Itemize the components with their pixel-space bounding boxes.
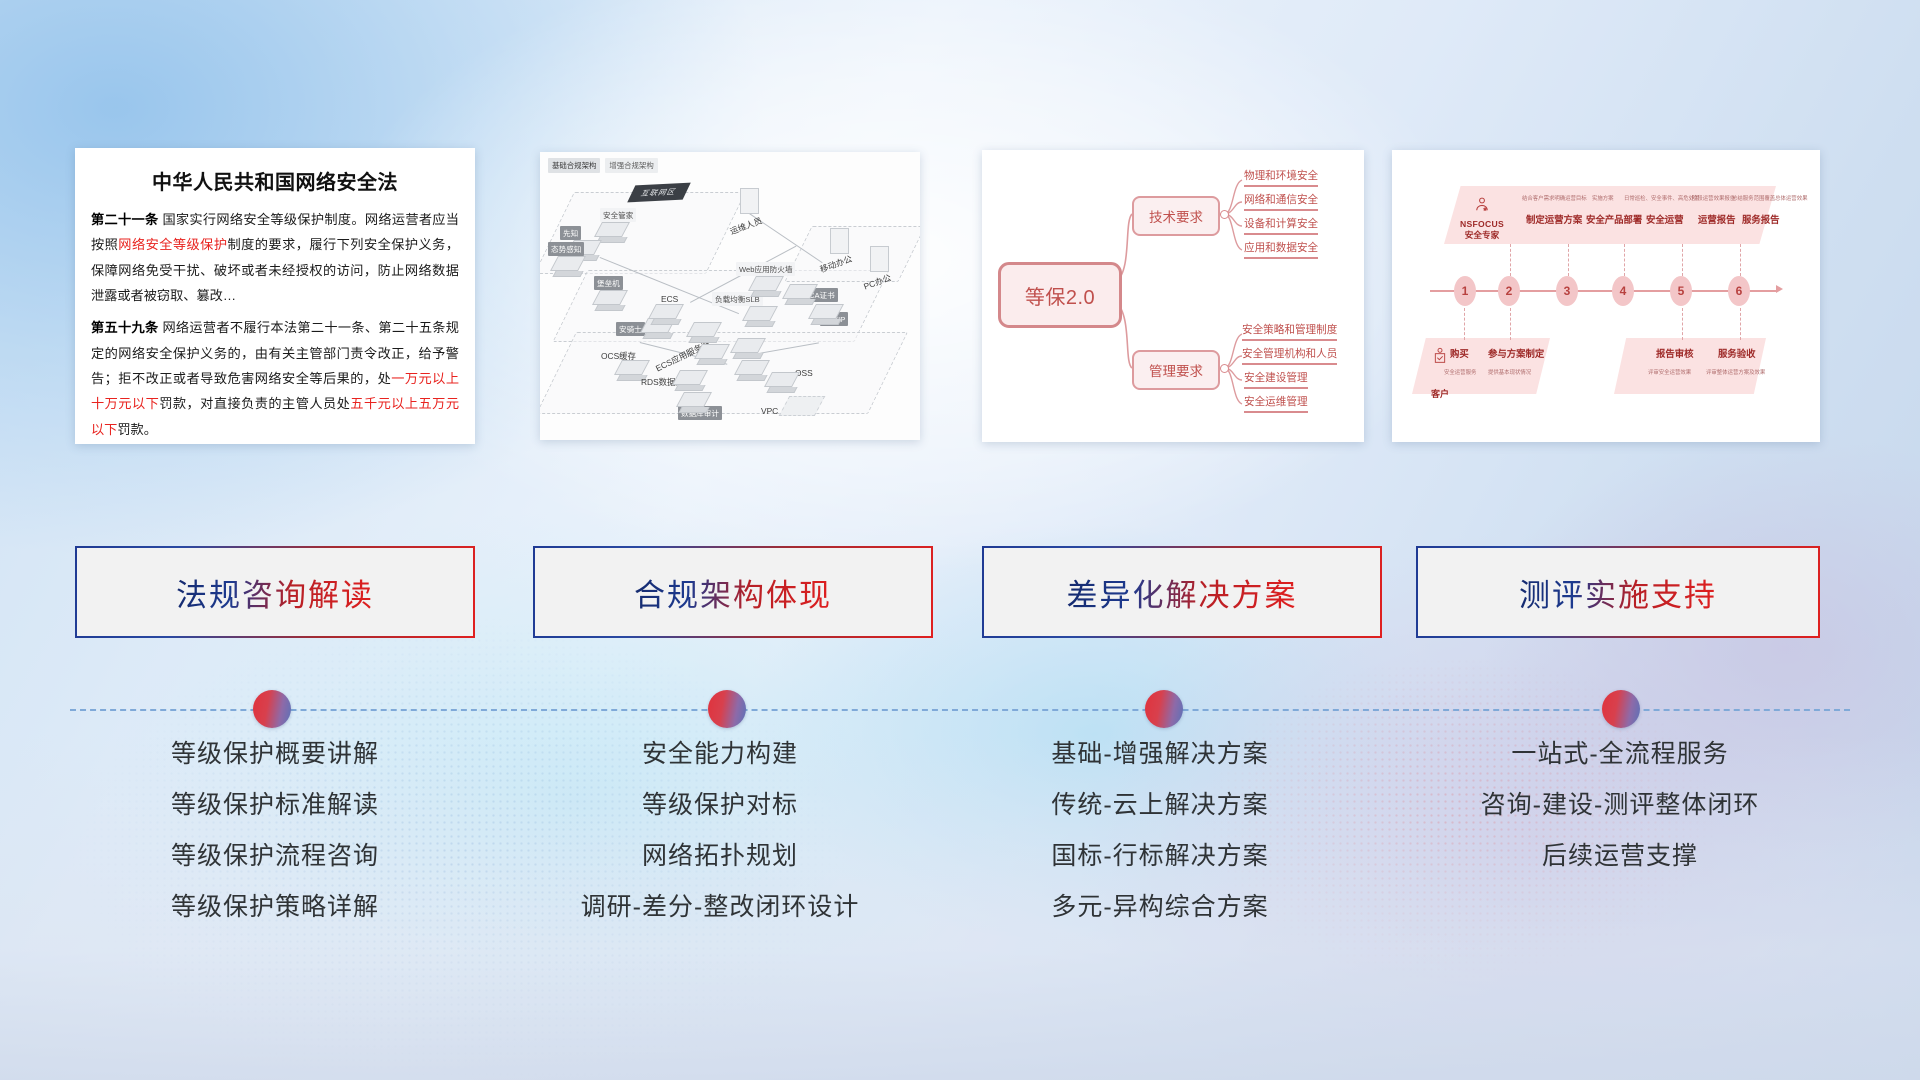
nsfocus-node-4[interactable]: 4 [1612, 276, 1634, 306]
architecture-node-anti-ddos-ip [812, 304, 840, 325]
architecture-label-xianzhi: 先知 [560, 226, 581, 240]
card-cloud-architecture[interactable]: 基础合规架构 增强合规架构 互联网区 安全管家 先知 [540, 152, 920, 440]
law-run-2-2: 罚款，对直接负责的主管人员处 [159, 396, 350, 411]
mindmap-root-node[interactable]: 等保2.0 [998, 262, 1122, 328]
mindmap-leaf-org-personnel[interactable]: 安全管理机构和人员 [1242, 346, 1337, 365]
architecture-tab-basic[interactable]: 基础合规架构 [548, 158, 600, 173]
detail-item: 安全能力构建 [500, 742, 940, 767]
architecture-node-mobile-office [830, 228, 849, 254]
detail-item: 等级保护对标 [500, 793, 940, 818]
nsfocus-step-3-title: 安全产品部署 [1586, 212, 1642, 226]
nsfocus-connector-c3 [1682, 308, 1684, 340]
architecture-node-ecs [652, 304, 680, 325]
detail-column-3: 基础-增强解决方案 传统-云上解决方案 国标-行标解决方案 多元-异构综合方案 [940, 742, 1380, 920]
architecture-node-oss [768, 372, 796, 393]
nsfocus-step-4-sub: 日常巡检、安全事件、高危处置 [1624, 194, 1699, 202]
nsfocus-cust-1-sub: 安全运营服务 [1444, 368, 1476, 376]
law-article-label-1: 第二十一条 [91, 212, 158, 227]
timeline-dot-4[interactable] [1602, 690, 1640, 728]
architecture-node-situation-awareness [554, 256, 582, 277]
nsfocus-timeline-axis [1430, 290, 1778, 292]
mindmap-collapse-icon-management[interactable] [1220, 364, 1229, 373]
architecture-node-rds [676, 370, 704, 391]
nsfocus-step-6-sub: 总结服务范围覆盖总体运营效果 [1732, 194, 1807, 202]
architecture-node-app-3 [734, 338, 762, 359]
nsfocus-brand-role: 安全专家 [1454, 229, 1510, 241]
law-title: 中华人民共和国网络安全法 [91, 166, 459, 195]
section-title-text-1: 法规咨询解读 [176, 570, 374, 615]
law-article-label-2: 第五十九条 [91, 320, 158, 335]
nsfocus-flow-diagram: NSFOCUS 安全专家 客户 结合客户需求明确运营目标 制定运营方案 实施方案 [1392, 150, 1820, 442]
nsfocus-node-3[interactable]: 3 [1556, 276, 1578, 306]
nsfocus-cust-1-title: 购买 [1450, 346, 1469, 360]
architecture-node-db-audit [680, 392, 708, 413]
architecture-node-security-manager [598, 222, 626, 243]
mindmap-branch-management[interactable]: 管理要求 [1132, 350, 1220, 390]
architecture-label-bastion-host: 堡垒机 [594, 276, 623, 290]
nsfocus-step-5-title: 运营报告 [1698, 212, 1736, 226]
architecture-node-bastion-host [596, 290, 624, 311]
mindmap-branch-technical[interactable]: 技术要求 [1132, 196, 1220, 236]
architecture-node-ops-staff [740, 188, 759, 214]
nsfocus-step-2-sub: 结合客户需求明确运营目标 [1522, 194, 1587, 202]
section-title-bar-1[interactable]: 法规咨询解读 [75, 546, 475, 638]
architecture-node-waf [752, 276, 780, 297]
detail-item: 咨询-建设-测评整体闭环 [1395, 793, 1845, 818]
mindmap-collapse-icon-technical[interactable] [1220, 210, 1229, 219]
nsfocus-node-5[interactable]: 5 [1670, 276, 1692, 306]
timeline-dashed-line [70, 709, 1850, 711]
detail-item: 等级保护流程咨询 [55, 844, 495, 869]
nsfocus-node-6[interactable]: 6 [1728, 276, 1750, 306]
detail-item: 多元-异构综合方案 [940, 895, 1380, 920]
timeline-dot-1[interactable] [253, 690, 291, 728]
nsfocus-cust-3-sub: 评审安全运营效果 [1648, 368, 1691, 376]
screenshot-card-row: 中华人民共和国网络安全法 第二十一条 国家实行网络安全等级保护制度。网络运营者应… [0, 148, 1920, 448]
nsfocus-connector-4 [1624, 244, 1626, 276]
detail-column-2: 安全能力构建 等级保护对标 网络拓扑规划 调研-差分-整改闭环设计 [500, 742, 940, 920]
architecture-label-situation-awareness: 态势感知 [548, 242, 584, 256]
nsfocus-cust-2-sub: 提供基本现状情况 [1488, 368, 1531, 376]
nsfocus-connector-6 [1740, 244, 1742, 276]
detail-item: 基础-增强解决方案 [940, 742, 1380, 767]
law-document: 中华人民共和国网络安全法 第二十一条 国家实行网络安全等级保护制度。网络运营者应… [75, 148, 475, 444]
nsfocus-step-3-sub: 实施方案 [1592, 194, 1614, 202]
nsfocus-brand-block: NSFOCUS 安全专家 [1454, 196, 1510, 241]
detail-item: 等级保护概要讲解 [55, 742, 495, 767]
nsfocus-step-6-title: 服务报告 [1742, 212, 1780, 226]
detail-item: 调研-差分-整改闭环设计 [500, 895, 940, 920]
architecture-label-security-manager: 安全管家 [600, 208, 636, 222]
architecture-tab-strip: 基础合规架构 增强合规架构 [548, 158, 658, 173]
customer-clipboard-icon [1432, 346, 1448, 368]
architecture-node-app-4 [738, 360, 766, 381]
section-title-text-4: 测评实施支持 [1519, 570, 1717, 615]
law-run-2-4: 罚款。 [117, 422, 157, 437]
nsfocus-node-1[interactable]: 1 [1454, 276, 1476, 306]
mindmap-leaf-construction[interactable]: 安全建设管理 [1244, 370, 1308, 389]
architecture-node-ca-cert [786, 284, 814, 305]
section-title-row: 法规咨询解读 合规架构体现 差异化解决方案 测评实施支持 [0, 546, 1920, 644]
nsfocus-cust-2-title: 参与方案制定 [1488, 346, 1544, 360]
nsfocus-brand-name: NSFOCUS [1454, 219, 1510, 229]
section-detail-columns: 等级保护概要讲解 等级保护标准解读 等级保护流程咨询 等级保护策略详解 安全能力… [0, 742, 1920, 962]
mindmap-leaf-device-compute[interactable]: 设备和计算安全 [1244, 216, 1318, 235]
law-run-1-1: 网络安全等级保护 [118, 237, 227, 252]
mindmap-leaf-operations[interactable]: 安全运维管理 [1244, 394, 1308, 413]
card-mindmap-dengbao[interactable]: 等保2.0 技术要求 管理要求 物理和环境安全 网络和通信安全 设备和计算安全 … [982, 150, 1364, 442]
mindmap-diagram: 等保2.0 技术要求 管理要求 物理和环境安全 网络和通信安全 设备和计算安全 … [982, 150, 1364, 442]
section-title-text-3: 差异化解决方案 [1067, 570, 1298, 615]
expert-person-icon [1473, 196, 1491, 214]
mindmap-leaf-policy-system[interactable]: 安全策略和管理制度 [1242, 322, 1337, 341]
architecture-node-slb [746, 306, 774, 327]
architecture-node-pc-office [870, 246, 889, 272]
detail-item: 国标-行标解决方案 [940, 844, 1380, 869]
detail-column-4: 一站式-全流程服务 咨询-建设-测评整体闭环 后续运营支撑 [1395, 742, 1845, 869]
architecture-label-waf: Web应用防火墙 [736, 262, 795, 276]
section-title-text-2: 合规架构体现 [634, 570, 832, 615]
card-cybersecurity-law[interactable]: 中华人民共和国网络安全法 第二十一条 国家实行网络安全等级保护制度。网络运营者应… [75, 148, 475, 444]
law-paragraph-2: 第五十九条 网络运营者不履行本法第二十一条、第二十五条规定的网络安全保护义务的，… [91, 315, 459, 442]
nsfocus-connector-c2 [1510, 308, 1512, 340]
detail-item: 等级保护标准解读 [55, 793, 495, 818]
architecture-tab-enhanced[interactable]: 增强合规架构 [605, 158, 657, 173]
card-nsfocus-service-flow[interactable]: NSFOCUS 安全专家 客户 结合客户需求明确运营目标 制定运营方案 实施方案 [1392, 150, 1820, 442]
nsfocus-connector-2 [1510, 244, 1512, 276]
nsfocus-connector-c1 [1464, 308, 1466, 340]
nsfocus-connector-3 [1568, 244, 1570, 276]
detail-item: 网络拓扑规划 [500, 844, 940, 869]
nsfocus-customer-label: 客户 [1418, 387, 1462, 400]
architecture-diagram: 基础合规架构 增强合规架构 互联网区 安全管家 先知 [540, 152, 920, 440]
detail-item: 后续运营支撑 [1395, 844, 1845, 869]
architecture-node-app-1 [690, 322, 718, 343]
detail-item: 传统-云上解决方案 [940, 793, 1380, 818]
nsfocus-step-5-sub: 阶段运营效果报告 [1692, 194, 1735, 202]
nsfocus-cust-3-title: 报告审核 [1656, 346, 1694, 360]
timeline-dot-3[interactable] [1145, 690, 1183, 728]
architecture-node-app-2 [698, 344, 726, 365]
mindmap-leaf-app-data[interactable]: 应用和数据安全 [1244, 240, 1318, 259]
detail-item: 一站式-全流程服务 [1395, 742, 1845, 767]
architecture-banner-internet-zone: 互联网区 [627, 183, 690, 203]
nsfocus-timeline-arrow-icon [1776, 285, 1783, 293]
architecture-label-anqishi: 安骑士 [616, 322, 645, 336]
law-paragraph-1: 第二十一条 国家实行网络安全等级保护制度。网络运营者应当按照网络安全等级保护制度… [91, 207, 459, 308]
timeline [0, 690, 1920, 730]
section-title-bar-4[interactable]: 测评实施支持 [1416, 546, 1820, 638]
mindmap-leaf-network-comm[interactable]: 网络和通信安全 [1244, 192, 1318, 211]
section-title-bar-2[interactable]: 合规架构体现 [533, 546, 933, 638]
nsfocus-node-2[interactable]: 2 [1498, 276, 1520, 306]
timeline-dot-2[interactable] [708, 690, 746, 728]
nsfocus-connector-c4 [1740, 308, 1742, 340]
detail-item: 等级保护策略详解 [55, 895, 495, 920]
nsfocus-step-4-title: 安全运营 [1646, 212, 1684, 226]
nsfocus-step-2-title: 制定运营方案 [1526, 212, 1582, 226]
nsfocus-cust-4-title: 服务验收 [1718, 346, 1756, 360]
nsfocus-connector-5 [1682, 244, 1684, 276]
section-title-bar-3[interactable]: 差异化解决方案 [982, 546, 1382, 638]
mindmap-leaf-physical-env[interactable]: 物理和环境安全 [1244, 168, 1318, 187]
nsfocus-cust-4-sub: 评审整体运营方案及效果 [1706, 368, 1765, 376]
detail-column-1: 等级保护概要讲解 等级保护标准解读 等级保护流程咨询 等级保护策略详解 [55, 742, 495, 920]
